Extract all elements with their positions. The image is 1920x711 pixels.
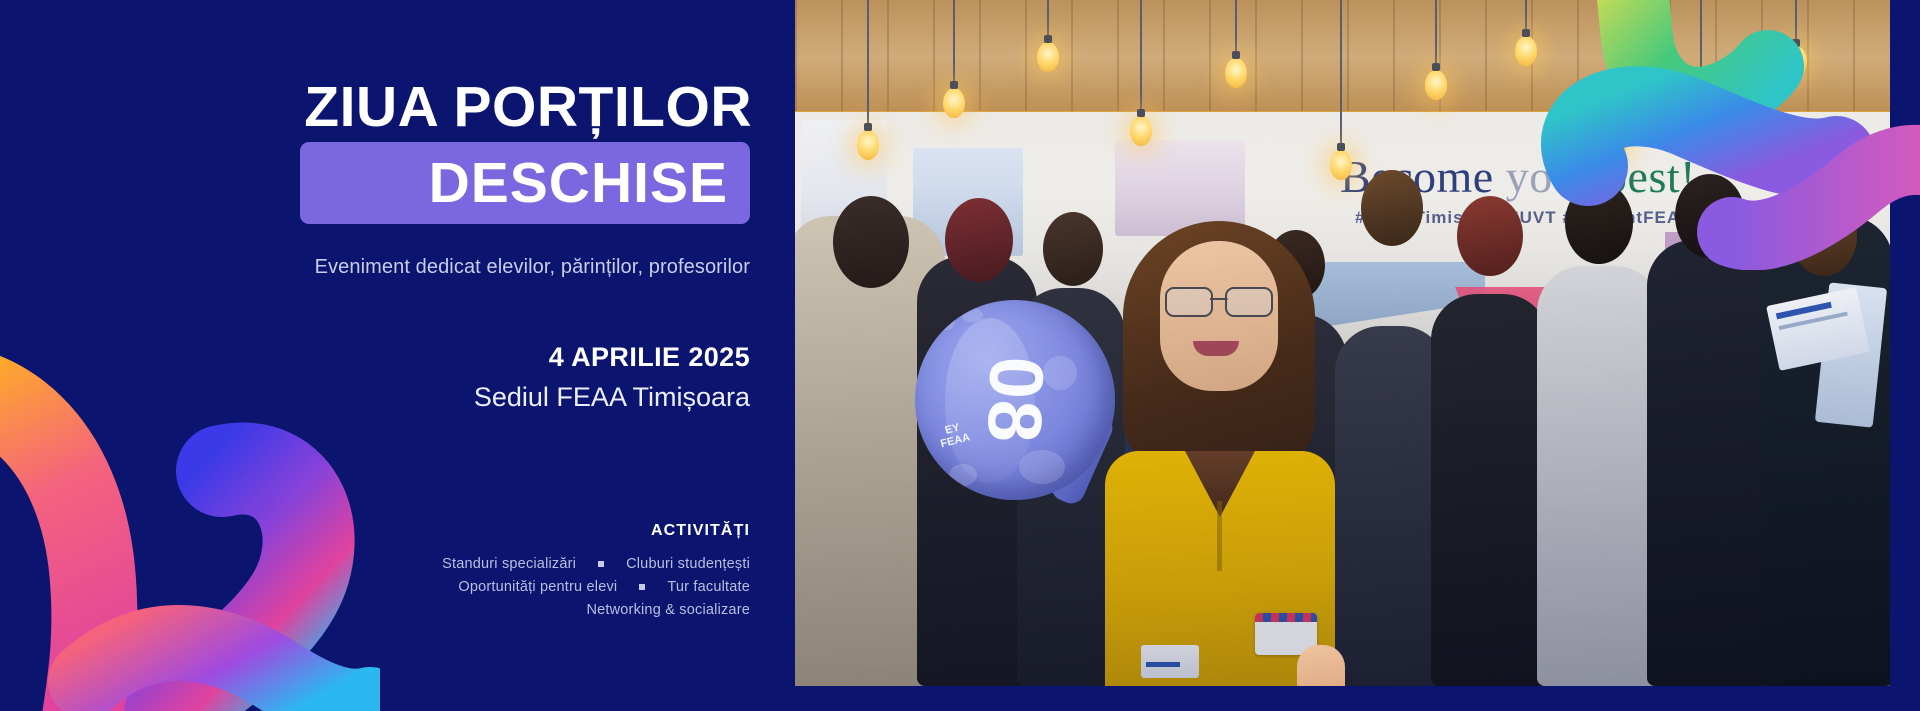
- glasses-icon: [1165, 287, 1273, 313]
- activities-row: Oportunități pentru elevi Tur facultate: [230, 579, 750, 595]
- activities-section: ACTIVITĂȚI Standuri specializări Cluburi…: [230, 522, 750, 625]
- activities-row: Networking & socializare: [230, 602, 750, 618]
- attendee-head: [1565, 182, 1633, 264]
- light-bulb-icon: [1690, 82, 1712, 112]
- light-bulb-icon: [1605, 128, 1627, 158]
- volunteer-hand: [1297, 645, 1345, 686]
- light-bulb-icon: [1330, 150, 1352, 180]
- lanyard-badge: [1141, 645, 1199, 678]
- light-bulb-icon: [857, 130, 879, 160]
- bullet-separator-icon: [598, 561, 604, 567]
- attendee-head: [833, 196, 909, 288]
- light-bulb-icon: [1785, 46, 1807, 76]
- attendee-head: [1457, 196, 1523, 276]
- numbered-paddle: 08 EY FEAA: [915, 300, 1115, 505]
- headline-highlight-box: DESCHISE: [300, 142, 750, 224]
- light-bulb-icon: [1225, 58, 1247, 88]
- event-place: Sediul FEAA Timișoara: [474, 382, 750, 413]
- bulb-wire: [1615, 0, 1617, 128]
- attendee-head: [1675, 174, 1745, 258]
- activities-row: Standuri specializări Cluburi studențeșt…: [230, 556, 750, 572]
- attendee-head: [1043, 212, 1103, 286]
- bulb-wire: [1340, 0, 1342, 150]
- light-bulb-icon: [1515, 36, 1537, 66]
- activity-item: Cluburi studențești: [626, 556, 750, 572]
- subtitle: Eveniment dedicat elevilor, părinților, …: [315, 256, 750, 279]
- light-bulb-icon: [1130, 116, 1152, 146]
- page-title-highlight: DESCHISE: [429, 150, 728, 216]
- activity-item: Oportunități pentru elevi: [458, 579, 617, 595]
- poster-canvas: Become your best! #FEAATimisoara #UVT #S…: [0, 0, 1920, 711]
- polo-placket: [1217, 501, 1222, 571]
- bullet-separator-icon: [639, 584, 645, 590]
- bulb-wire: [1235, 0, 1237, 58]
- text-column: ZIUA PORȚILOR DESCHISE Eveniment dedicat…: [0, 0, 795, 711]
- light-bulb-icon: [943, 88, 965, 118]
- event-photo: Become your best! #FEAATimisoara #UVT #S…: [795, 0, 1890, 686]
- page-title: ZIUA PORȚILOR: [304, 78, 752, 138]
- attendee-head: [1791, 196, 1857, 276]
- volunteer: [1105, 215, 1335, 686]
- paddle-number: 08: [970, 355, 1060, 445]
- bulb-wire: [1435, 0, 1437, 70]
- paddle-disc: 08 EY FEAA: [915, 300, 1115, 500]
- activity-item: Tur facultate: [667, 579, 750, 595]
- activities-title: ACTIVITĂȚI: [230, 522, 750, 540]
- attendee-head: [945, 198, 1013, 282]
- attendee: [1431, 294, 1549, 686]
- activity-item: Networking & socializare: [586, 602, 750, 618]
- light-bulb-icon: [1037, 42, 1059, 72]
- light-bulb-icon: [1425, 70, 1447, 100]
- event-date: 4 APRILIE 2025: [549, 342, 750, 373]
- attendee: [1647, 240, 1773, 686]
- bulb-wire: [953, 0, 955, 88]
- activity-item: Standuri specializări: [442, 556, 576, 572]
- bulb-wire: [1700, 0, 1702, 82]
- attendee-head: [1361, 170, 1423, 246]
- bulb-wire: [1140, 0, 1142, 116]
- bulb-wire: [867, 0, 869, 130]
- attendee: [1537, 266, 1661, 686]
